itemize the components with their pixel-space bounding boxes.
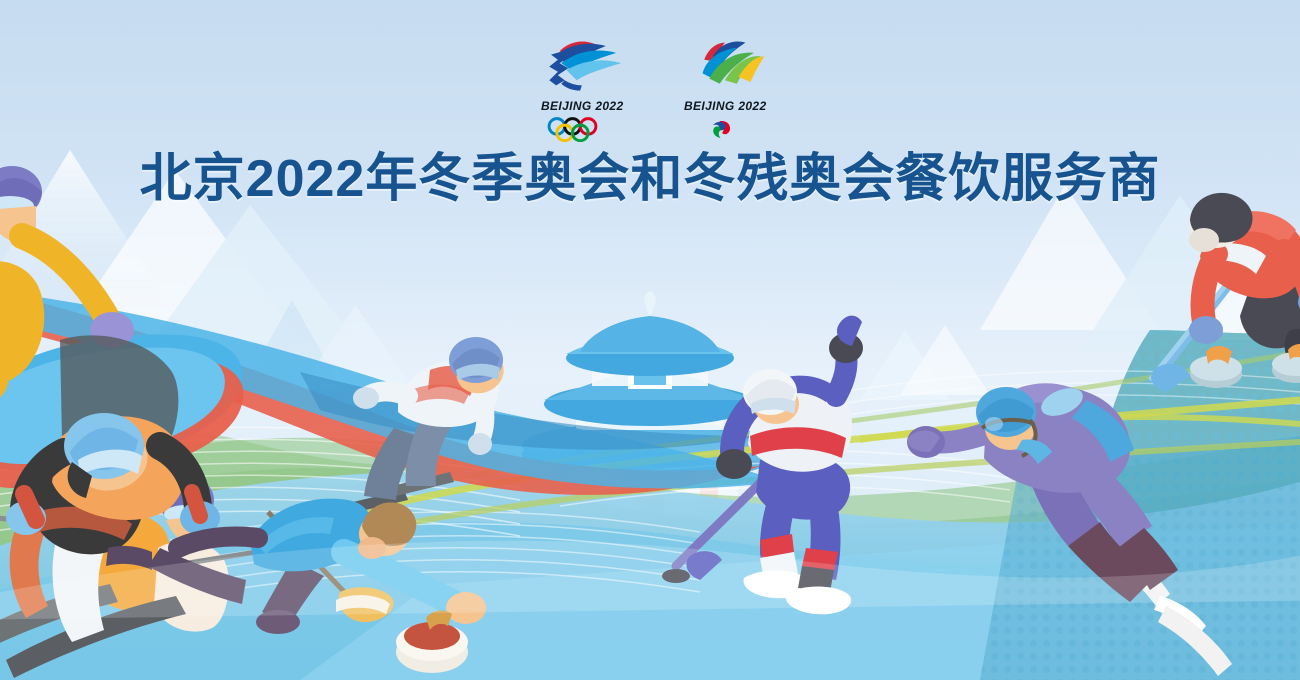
paralympic-agitos-icon xyxy=(683,116,761,142)
logo-row: BEIJING 2022 xyxy=(0,34,1300,142)
paralympic-emblem-icon xyxy=(670,34,773,94)
olympic-banner: BEIJING 2022 xyxy=(0,0,1300,680)
beijing-2022-olympic-logo: BEIJING 2022 xyxy=(526,34,631,142)
olympic-emblem-icon xyxy=(527,34,630,94)
beijing-2022-paralympic-logo: BEIJING 2022 xyxy=(669,34,774,142)
svg-text:BEIJING 2022: BEIJING 2022 xyxy=(541,99,624,113)
page-title: 北京2022年冬季奥会和冬残奥会餐饮服务商 xyxy=(0,148,1300,210)
svg-text:BEIJING 2022: BEIJING 2022 xyxy=(684,99,767,113)
olympic-rings-icon xyxy=(540,116,618,142)
paralympic-wordmark: BEIJING 2022 xyxy=(669,98,782,113)
olympic-wordmark: BEIJING 2022 xyxy=(526,98,639,113)
